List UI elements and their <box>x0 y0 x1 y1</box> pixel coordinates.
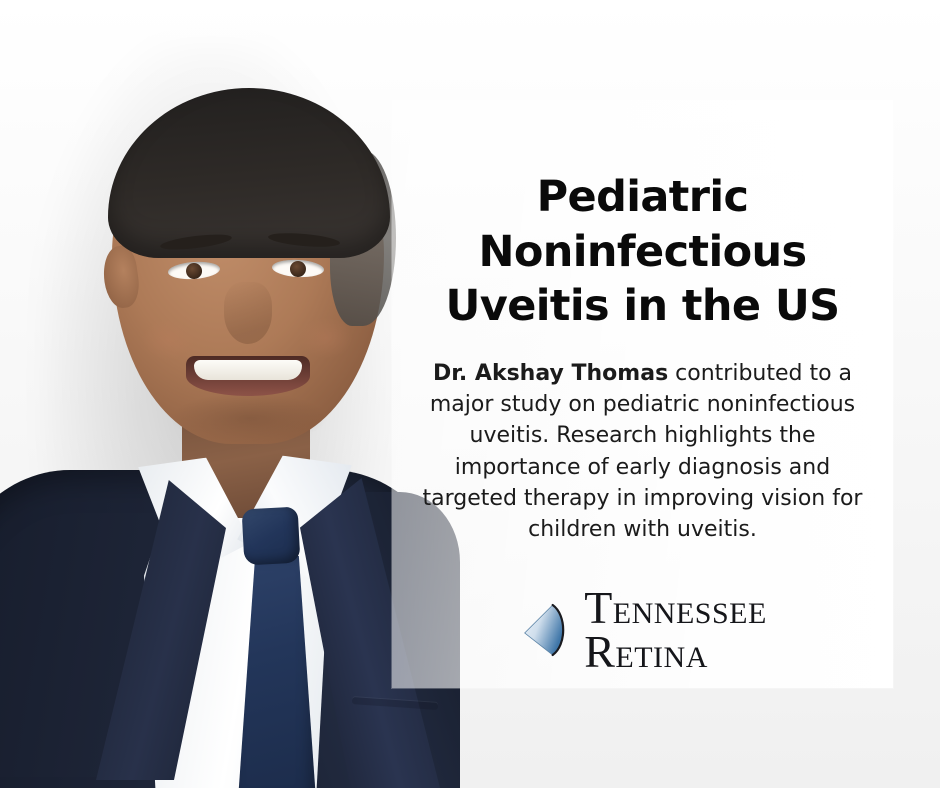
description-rest: contributed to a major study on pediatri… <box>423 361 863 542</box>
necktie-knot <box>242 507 301 566</box>
doctor-portrait <box>0 0 430 788</box>
description-text: Dr. Akshay Thomas contributed to a major… <box>415 358 870 545</box>
logo-cap-r: R <box>584 626 615 677</box>
content-panel: Pediatric Noninfectious Uveitis in the U… <box>392 100 893 688</box>
iris-left <box>185 262 202 279</box>
doctor-name: Dr. Akshay Thomas <box>433 361 668 386</box>
promo-card: Pediatric Noninfectious Uveitis in the U… <box>0 0 940 788</box>
lens-mark-icon <box>518 599 580 661</box>
cheek-right <box>300 318 352 358</box>
nose <box>224 282 272 344</box>
tennessee-retina-logo: TENNESSEE RETINA <box>518 587 767 674</box>
logo-line-retina: RETINA <box>584 631 767 673</box>
logo-wordmark: TENNESSEE RETINA <box>584 587 767 674</box>
cheek-left <box>142 320 194 360</box>
logo-smallcaps-ennessee: ENNESSEE <box>613 597 767 630</box>
logo-line-tennessee: TENNESSEE <box>584 587 767 629</box>
logo-smallcaps-etina: ETINA <box>615 641 707 674</box>
chin-shading <box>170 392 328 444</box>
page-title: Pediatric Noninfectious Uveitis in the U… <box>423 170 863 334</box>
teeth <box>194 360 302 380</box>
iris-right <box>290 260 307 277</box>
smile <box>186 356 310 396</box>
